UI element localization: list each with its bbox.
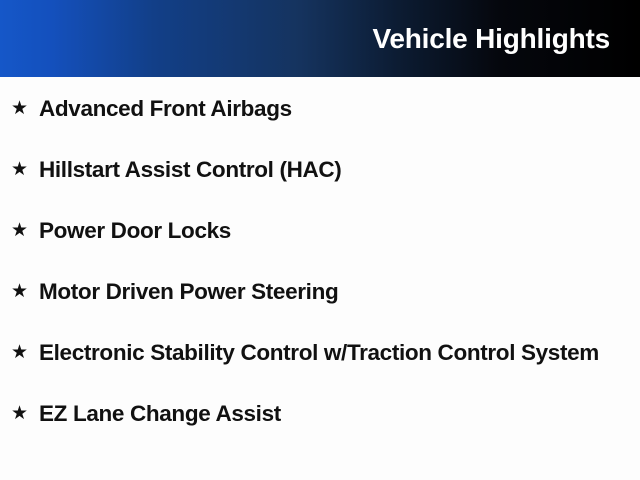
list-item: ★ Advanced Front Airbags	[0, 94, 640, 123]
star-icon: ★	[11, 155, 30, 184]
star-icon: ★	[11, 94, 30, 123]
highlight-label: Motor Driven Power Steering	[39, 277, 626, 306]
list-item: ★ Motor Driven Power Steering	[0, 277, 640, 306]
page-header-banner: Vehicle Highlights	[0, 0, 640, 77]
page-title: Vehicle Highlights	[372, 25, 640, 53]
star-icon: ★	[11, 277, 30, 306]
list-item: ★ Power Door Locks	[0, 216, 640, 245]
list-item: ★ Hillstart Assist Control (HAC)	[0, 155, 640, 184]
highlight-label: Power Door Locks	[39, 216, 626, 245]
highlight-label: Electronic Stability Control w/Traction …	[39, 338, 626, 367]
star-icon: ★	[11, 216, 30, 245]
list-item: ★ Electronic Stability Control w/Tractio…	[0, 338, 640, 367]
highlight-label: Advanced Front Airbags	[39, 94, 626, 123]
star-icon: ★	[11, 399, 30, 428]
list-item: ★ EZ Lane Change Assist	[0, 399, 640, 428]
highlight-label: EZ Lane Change Assist	[39, 399, 626, 428]
vehicle-highlights-list: ★ Advanced Front Airbags ★ Hillstart Ass…	[0, 77, 640, 480]
star-icon: ★	[11, 338, 30, 367]
highlight-label: Hillstart Assist Control (HAC)	[39, 155, 626, 184]
vehicle-highlights-page: Vehicle Highlights ★ Advanced Front Airb…	[0, 0, 640, 480]
